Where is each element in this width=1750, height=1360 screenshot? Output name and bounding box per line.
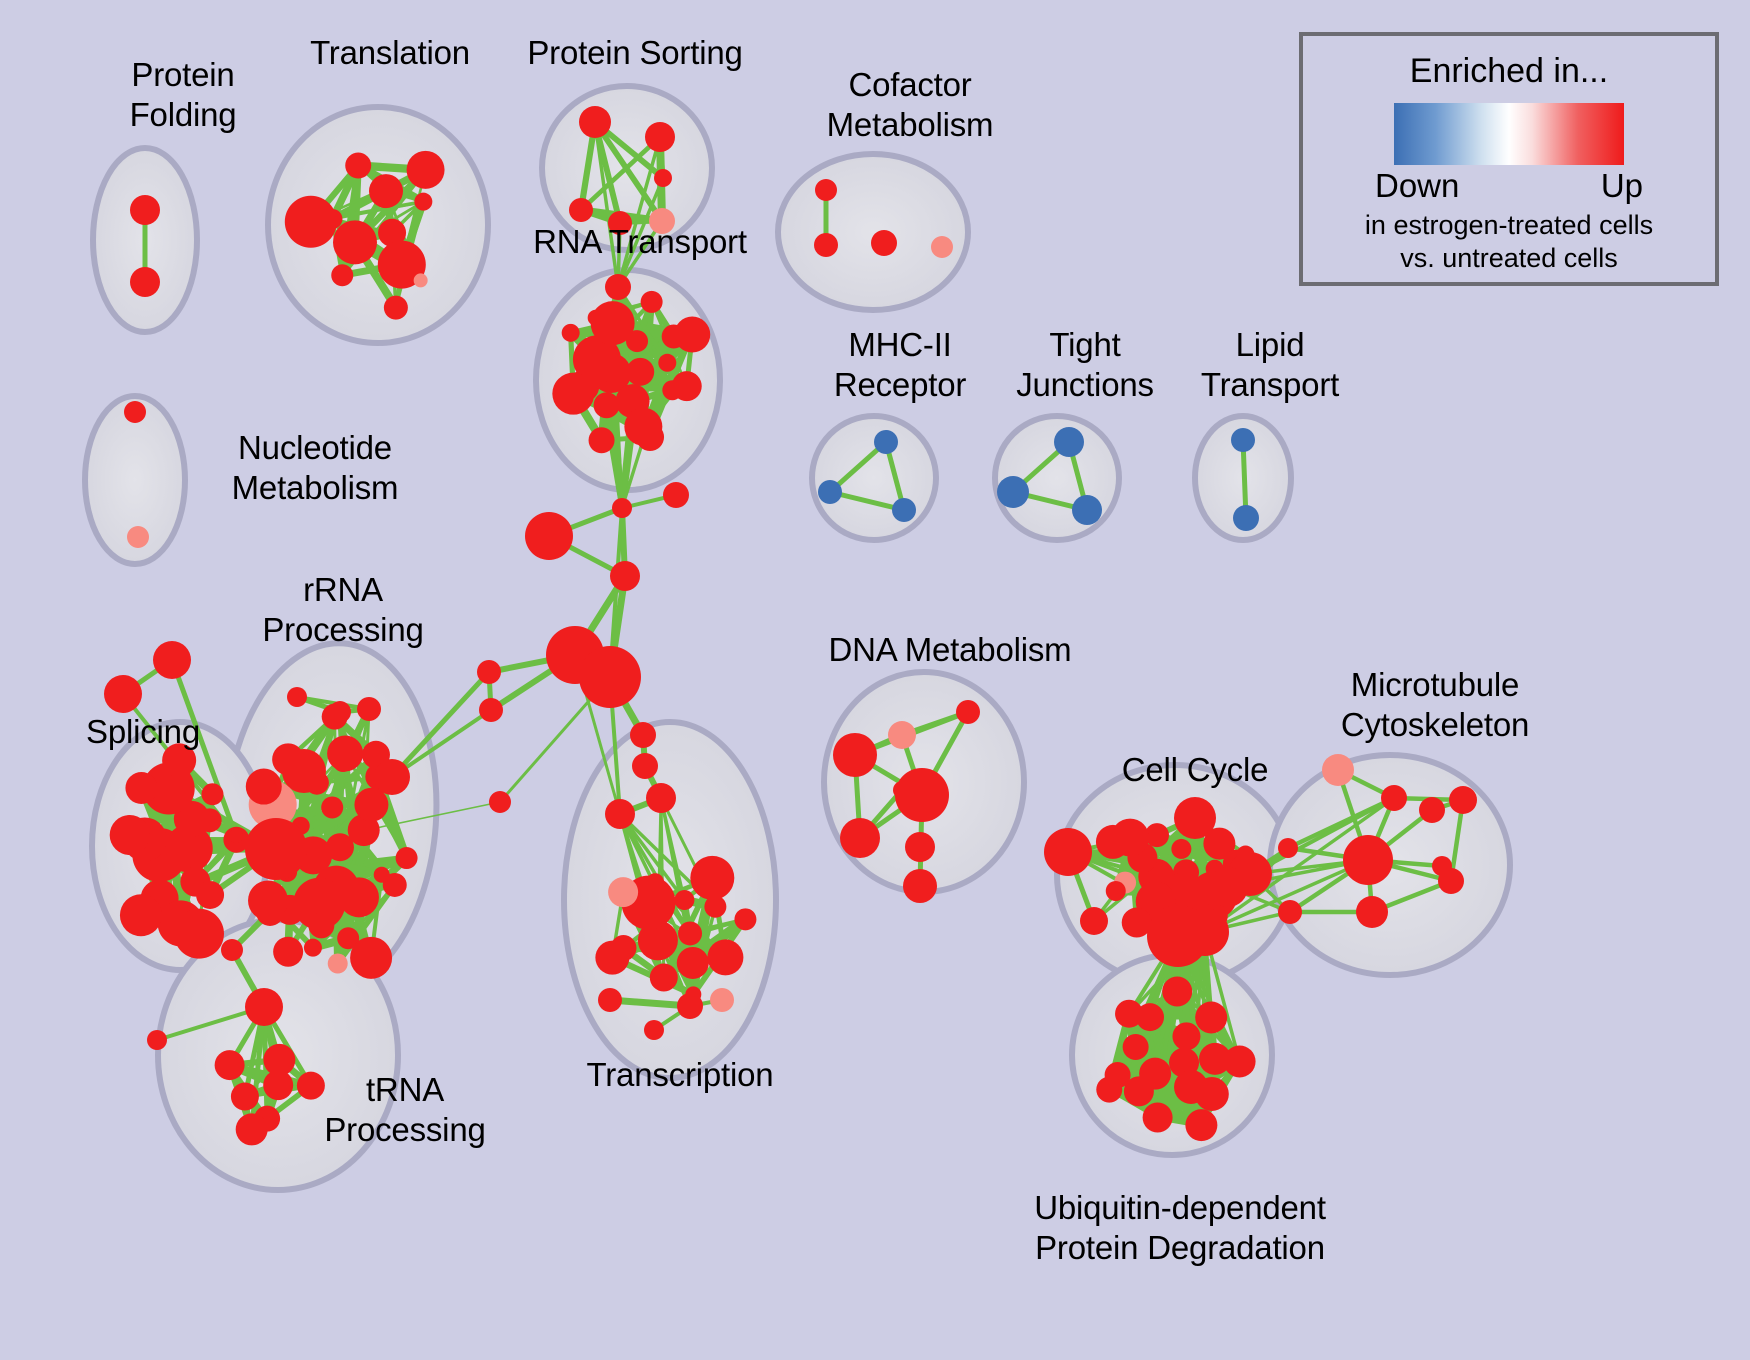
network-node[interactable] bbox=[672, 371, 702, 401]
network-node[interactable] bbox=[124, 401, 146, 423]
network-node[interactable] bbox=[1195, 1077, 1229, 1111]
network-node[interactable] bbox=[641, 291, 663, 313]
network-node[interactable] bbox=[905, 832, 935, 862]
network-node[interactable] bbox=[407, 151, 445, 189]
network-node[interactable] bbox=[630, 722, 656, 748]
network-node[interactable] bbox=[125, 772, 157, 804]
network-node[interactable] bbox=[396, 847, 418, 869]
network-node[interactable] bbox=[1208, 867, 1248, 907]
network-node[interactable] bbox=[273, 937, 303, 967]
network-node[interactable] bbox=[833, 733, 877, 777]
network-node[interactable] bbox=[479, 698, 503, 722]
network-node[interactable] bbox=[287, 687, 307, 707]
network-node[interactable] bbox=[1432, 856, 1452, 876]
network-node[interactable] bbox=[1072, 495, 1102, 525]
network-node[interactable] bbox=[674, 890, 694, 910]
network-node[interactable] bbox=[1106, 881, 1126, 901]
legend-title: Enriched in... bbox=[1303, 52, 1715, 91]
network-node[interactable] bbox=[646, 783, 676, 813]
network-node[interactable] bbox=[895, 768, 949, 822]
network-node[interactable] bbox=[272, 743, 304, 775]
network-node[interactable] bbox=[229, 829, 243, 843]
network-node[interactable] bbox=[1278, 838, 1298, 858]
network-node[interactable] bbox=[1174, 797, 1216, 839]
legend-box: Enriched in... Down Up in estrogen-treat… bbox=[1299, 32, 1719, 286]
cluster-label-splicing: Splicing bbox=[48, 712, 238, 752]
network-node[interactable] bbox=[345, 153, 371, 179]
network-node[interactable] bbox=[245, 988, 283, 1026]
network-node[interactable] bbox=[331, 264, 353, 286]
network-node[interactable] bbox=[489, 791, 511, 813]
network-node[interactable] bbox=[612, 498, 632, 518]
network-node[interactable] bbox=[1181, 908, 1229, 956]
network-node[interactable] bbox=[871, 230, 897, 256]
network-node[interactable] bbox=[1278, 900, 1302, 924]
network-node[interactable] bbox=[1343, 835, 1393, 885]
network-node[interactable] bbox=[120, 894, 162, 936]
network-node[interactable] bbox=[605, 274, 631, 300]
network-node[interactable] bbox=[1171, 839, 1191, 859]
network-node[interactable] bbox=[840, 818, 880, 858]
network-node[interactable] bbox=[231, 1083, 259, 1111]
network-node[interactable] bbox=[245, 818, 307, 880]
network-node[interactable] bbox=[562, 324, 580, 342]
network-node[interactable] bbox=[414, 193, 432, 211]
network-node[interactable] bbox=[127, 526, 149, 548]
network-node[interactable] bbox=[1096, 825, 1130, 859]
cluster-hull-mhc-ii-receptor bbox=[812, 416, 936, 540]
network-node[interactable] bbox=[414, 273, 428, 287]
network-node[interactable] bbox=[710, 988, 734, 1012]
network-node[interactable] bbox=[588, 310, 604, 326]
network-node[interactable] bbox=[110, 815, 150, 855]
network-node[interactable] bbox=[650, 964, 678, 992]
network-node[interactable] bbox=[383, 873, 407, 897]
network-node[interactable] bbox=[644, 1020, 664, 1040]
network-node[interactable] bbox=[1143, 1102, 1173, 1132]
network-node[interactable] bbox=[903, 869, 937, 903]
network-node[interactable] bbox=[646, 873, 664, 891]
network-node[interactable] bbox=[1162, 977, 1192, 1007]
cluster-label-transcription: Transcription bbox=[555, 1055, 805, 1095]
network-node[interactable] bbox=[595, 941, 629, 975]
cluster-label-translation: Translation bbox=[270, 33, 510, 73]
network-node[interactable] bbox=[658, 354, 676, 372]
network-node[interactable] bbox=[198, 808, 222, 832]
network-node[interactable] bbox=[608, 877, 638, 907]
network-node[interactable] bbox=[654, 169, 672, 187]
network-node[interactable] bbox=[663, 482, 689, 508]
network-node[interactable] bbox=[1185, 1109, 1217, 1141]
network-node[interactable] bbox=[1356, 896, 1388, 928]
network-node[interactable] bbox=[1044, 828, 1092, 876]
network-node[interactable] bbox=[610, 561, 640, 591]
network-node[interactable] bbox=[221, 939, 243, 961]
network-node[interactable] bbox=[130, 267, 160, 297]
network-node[interactable] bbox=[201, 783, 223, 805]
network-node[interactable] bbox=[1381, 785, 1407, 811]
network-node[interactable] bbox=[579, 646, 641, 708]
legend-caption: in estrogen-treated cells vs. untreated … bbox=[1303, 209, 1715, 275]
network-node[interactable] bbox=[1231, 428, 1255, 452]
network-node[interactable] bbox=[605, 799, 635, 829]
network-node[interactable] bbox=[328, 954, 348, 974]
cluster-label-rna-transport: RNA Transport bbox=[500, 222, 780, 262]
network-node[interactable] bbox=[690, 856, 734, 900]
network-node[interactable] bbox=[1096, 1077, 1122, 1103]
network-node[interactable] bbox=[579, 106, 611, 138]
network-node[interactable] bbox=[1115, 1000, 1143, 1028]
network-figure-canvas: Protein FoldingTranslationProtein Sortin… bbox=[0, 0, 1750, 1360]
cluster-hull-cofactor-metabolism bbox=[778, 154, 968, 310]
cluster-label-lipid-transport: Lipid Transport bbox=[1160, 325, 1380, 405]
network-node[interactable] bbox=[153, 641, 191, 679]
network-node[interactable] bbox=[215, 1050, 245, 1080]
network-node[interactable] bbox=[1172, 1022, 1200, 1050]
network-node[interactable] bbox=[931, 236, 953, 258]
network-node[interactable] bbox=[174, 909, 224, 959]
cluster-label-cell-cycle: Cell Cycle bbox=[1085, 750, 1305, 790]
network-node[interactable] bbox=[552, 373, 594, 415]
network-node[interactable] bbox=[354, 788, 388, 822]
network-node[interactable] bbox=[678, 921, 702, 945]
network-node[interactable] bbox=[369, 174, 403, 208]
network-node[interactable] bbox=[818, 480, 842, 504]
network-node[interactable] bbox=[1449, 786, 1477, 814]
network-node[interactable] bbox=[1224, 1045, 1256, 1077]
network-node[interactable] bbox=[1419, 797, 1445, 823]
network-node[interactable] bbox=[350, 937, 392, 979]
network-node[interactable] bbox=[734, 908, 756, 930]
network-node[interactable] bbox=[236, 1113, 268, 1145]
network-node[interactable] bbox=[384, 296, 408, 320]
network-node[interactable] bbox=[632, 753, 658, 779]
network-node[interactable] bbox=[357, 697, 381, 721]
legend-right-label: Up bbox=[1601, 167, 1643, 205]
legend-left-label: Down bbox=[1375, 167, 1459, 205]
network-node[interactable] bbox=[525, 512, 573, 560]
network-node[interactable] bbox=[147, 1030, 167, 1050]
cluster-label-protein-folding: Protein Folding bbox=[78, 55, 288, 135]
network-node[interactable] bbox=[677, 993, 703, 1019]
network-node[interactable] bbox=[196, 881, 224, 909]
network-node[interactable] bbox=[874, 430, 898, 454]
network-node[interactable] bbox=[569, 198, 593, 222]
network-node[interactable] bbox=[477, 660, 501, 684]
network-node[interactable] bbox=[956, 700, 980, 724]
network-node[interactable] bbox=[333, 220, 377, 264]
network-node[interactable] bbox=[104, 675, 142, 713]
network-node[interactable] bbox=[814, 233, 838, 257]
network-node[interactable] bbox=[321, 796, 343, 818]
cluster-label-rrna-processing: rRNA Processing bbox=[228, 570, 458, 650]
network-node[interactable] bbox=[589, 427, 615, 453]
cluster-label-ubiquitin-protein-degradation: Ubiquitin-dependent Protein Degradation bbox=[980, 1188, 1380, 1268]
network-node[interactable] bbox=[329, 701, 351, 723]
network-node[interactable] bbox=[333, 752, 353, 772]
network-node[interactable] bbox=[598, 988, 622, 1012]
network-node[interactable] bbox=[997, 476, 1029, 508]
network-node[interactable] bbox=[308, 912, 334, 938]
network-node[interactable] bbox=[645, 122, 675, 152]
network-node[interactable] bbox=[674, 317, 710, 353]
cluster-label-cofactor-metabolism: Cofactor Metabolism bbox=[790, 65, 1030, 145]
cluster-label-protein-sorting: Protein Sorting bbox=[495, 33, 775, 73]
network-node[interactable] bbox=[677, 947, 709, 979]
network-node[interactable] bbox=[1123, 1034, 1149, 1060]
legend-color-gradient-bar bbox=[1394, 103, 1624, 165]
network-node[interactable] bbox=[707, 939, 743, 975]
network-node[interactable] bbox=[256, 898, 284, 926]
network-node[interactable] bbox=[304, 939, 322, 957]
network-node[interactable] bbox=[636, 423, 664, 451]
network-node[interactable] bbox=[1195, 1001, 1227, 1033]
network-node[interactable] bbox=[1080, 907, 1108, 935]
cluster-label-trna-processing: tRNA Processing bbox=[290, 1070, 520, 1150]
network-node[interactable] bbox=[888, 721, 916, 749]
network-node[interactable] bbox=[339, 877, 379, 917]
network-node[interactable] bbox=[246, 769, 282, 805]
network-node[interactable] bbox=[892, 498, 916, 522]
network-node[interactable] bbox=[1054, 427, 1084, 457]
network-node[interactable] bbox=[1322, 754, 1354, 786]
network-node[interactable] bbox=[130, 195, 160, 225]
network-node[interactable] bbox=[815, 179, 837, 201]
network-node[interactable] bbox=[374, 759, 410, 795]
cluster-label-nucleotide-metabolism: Nucleotide Metabolism bbox=[190, 428, 440, 508]
network-node[interactable] bbox=[1233, 505, 1259, 531]
cluster-label-dna-metabolism: DNA Metabolism bbox=[800, 630, 1100, 670]
network-node[interactable] bbox=[285, 196, 337, 248]
network-node[interactable] bbox=[594, 392, 620, 418]
cluster-label-microtubule-cytoskeleton: Microtubule Cytoskeleton bbox=[1290, 665, 1580, 745]
